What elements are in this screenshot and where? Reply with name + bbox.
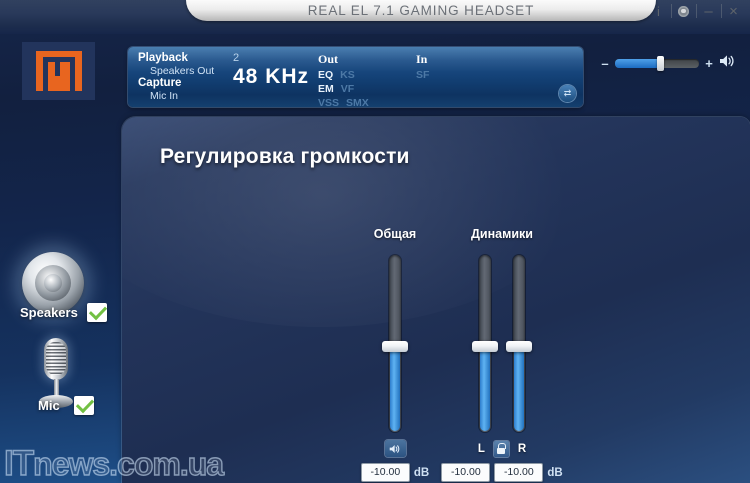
tag-em[interactable]: EM bbox=[318, 83, 334, 95]
status-format-column: 2 48 KHz bbox=[233, 52, 309, 89]
sample-rate: 48 KHz bbox=[233, 65, 309, 89]
capture-label: Capture bbox=[138, 77, 214, 89]
tag-vf[interactable]: VF bbox=[341, 83, 354, 95]
main-panel: Регулировка громкости Общая bbox=[122, 117, 750, 483]
watermark: ITnews.com.ua bbox=[4, 444, 223, 483]
mic-row[interactable]: Mic bbox=[38, 396, 94, 415]
logo-mark-icon bbox=[36, 51, 82, 91]
lock-icon[interactable] bbox=[494, 441, 509, 457]
unit-speakers: dB bbox=[547, 467, 562, 479]
slider-master[interactable] bbox=[389, 255, 401, 432]
volume-increase-button[interactable]: + bbox=[705, 56, 713, 71]
settings-button[interactable] bbox=[671, 1, 696, 21]
application-window: REAL EL 7.1 GAMING HEADSET i – × Playbac… bbox=[0, 0, 750, 483]
speaker-icon[interactable] bbox=[719, 54, 736, 72]
in-tag-row: SF bbox=[416, 69, 429, 81]
status-io-column: Playback Speakers Out Capture Mic In bbox=[138, 52, 214, 102]
group-speakers: Динамики L R -10.0 bbox=[422, 227, 582, 482]
channel-label-left: L bbox=[478, 443, 485, 455]
out-tag-row-1: EQ KS bbox=[318, 69, 369, 81]
status-panel: Playback Speakers Out Capture Mic In 2 4… bbox=[128, 47, 583, 107]
swap-icon[interactable]: ⇄ bbox=[559, 85, 576, 102]
mic-checkbox[interactable] bbox=[74, 396, 94, 415]
value-right[interactable]: -10.00 bbox=[494, 463, 543, 482]
in-header: In bbox=[416, 52, 429, 67]
slider-right-thumb[interactable] bbox=[506, 341, 532, 352]
slider-master-thumb[interactable] bbox=[382, 341, 408, 352]
group-speakers-sliders bbox=[422, 255, 582, 432]
capture-value: Mic In bbox=[150, 90, 214, 102]
close-button[interactable]: × bbox=[721, 1, 746, 21]
watermark-it: IT bbox=[4, 444, 33, 483]
volume-slider-fill bbox=[615, 59, 660, 68]
playback-value: Speakers Out bbox=[150, 65, 214, 77]
slider-speakers-right[interactable] bbox=[513, 255, 525, 432]
volume-slider-thumb[interactable] bbox=[657, 56, 664, 71]
info-button[interactable]: i bbox=[646, 1, 671, 21]
group-speakers-buttons: L R bbox=[422, 439, 582, 458]
real-el-logo bbox=[22, 42, 95, 100]
group-speakers-values: -10.00 -10.00 dB bbox=[422, 463, 582, 482]
value-master[interactable]: -10.00 bbox=[361, 463, 410, 482]
gear-icon bbox=[678, 6, 689, 17]
top-volume-control: – + bbox=[601, 54, 736, 72]
window-title: REAL EL 7.1 GAMING HEADSET bbox=[186, 1, 656, 21]
tag-ks[interactable]: KS bbox=[340, 69, 355, 81]
playback-label: Playback bbox=[138, 52, 214, 64]
slider-left-fill bbox=[480, 346, 490, 431]
sidebar-item-speakers-label: Speakers bbox=[20, 305, 78, 320]
out-header: Out bbox=[318, 52, 369, 67]
mute-button-master[interactable] bbox=[385, 440, 406, 457]
master-volume-slider[interactable] bbox=[615, 59, 699, 68]
page-title: Регулировка громкости bbox=[160, 145, 410, 169]
speakers-row[interactable]: Speakers bbox=[20, 303, 107, 322]
speakers-checkbox[interactable] bbox=[87, 303, 107, 322]
out-tag-row-2: EM VF bbox=[318, 83, 369, 95]
status-out-column: Out EQ KS EM VF VSS SMX bbox=[318, 52, 369, 107]
window-buttons: i – × bbox=[646, 1, 746, 21]
slider-speakers-left[interactable] bbox=[479, 255, 491, 432]
tag-smx[interactable]: SMX bbox=[346, 97, 369, 107]
minimize-button[interactable]: – bbox=[696, 1, 721, 21]
slider-right-fill bbox=[514, 346, 524, 431]
slider-master-fill bbox=[390, 346, 400, 431]
tag-vss[interactable]: VSS bbox=[318, 97, 339, 107]
tag-eq[interactable]: EQ bbox=[318, 69, 333, 81]
slider-left-thumb[interactable] bbox=[472, 341, 498, 352]
status-in-column: In SF bbox=[416, 52, 429, 81]
sidebar-item-mic-label: Mic bbox=[38, 398, 60, 413]
tag-sf[interactable]: SF bbox=[416, 69, 429, 81]
channel-count: 2 bbox=[233, 52, 309, 64]
channel-label-right: R bbox=[518, 443, 526, 455]
out-tag-row-3: VSS SMX bbox=[318, 97, 369, 107]
mic-head bbox=[44, 338, 68, 380]
watermark-rest: news.com.ua bbox=[33, 446, 223, 482]
value-left[interactable]: -10.00 bbox=[441, 463, 490, 482]
volume-decrease-button[interactable]: – bbox=[601, 56, 609, 71]
group-speakers-label: Динамики bbox=[422, 227, 582, 241]
